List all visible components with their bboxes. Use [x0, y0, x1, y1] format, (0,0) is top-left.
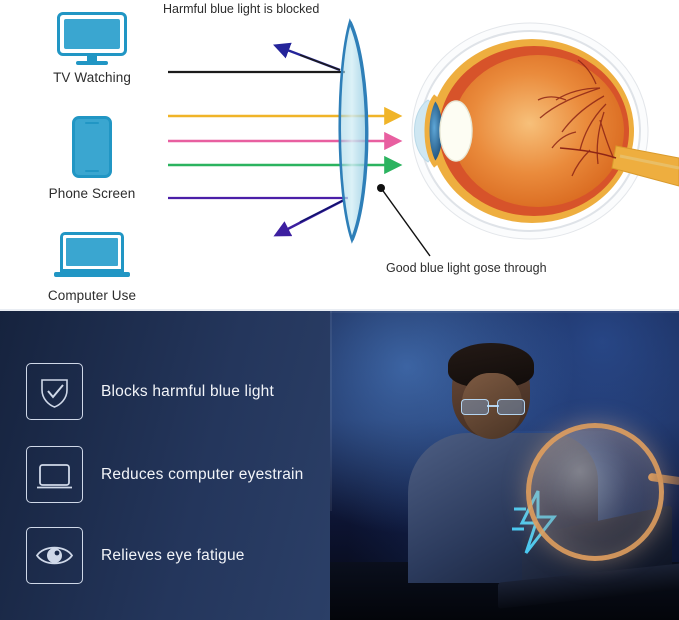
feature-label-reduces-eyestrain: Reduces computer eyestrain	[101, 466, 304, 484]
top-diagram-panel: Harmful blue light is blocked Good blue …	[0, 0, 679, 311]
feature-item-relieves-fatigue: Relieves eye fatigue	[26, 527, 245, 584]
feature-item-reduces-eyestrain: Reduces computer eyestrain	[26, 446, 304, 503]
feature-list: Blocks harmful blue light Reduces comput…	[0, 311, 330, 620]
bottom-feature-panel: Blocks harmful blue light Reduces comput…	[0, 311, 679, 620]
monitor-icon	[26, 446, 83, 503]
feature-item-blocks-blue-light: Blocks harmful blue light	[26, 363, 274, 420]
light-ray-and-eye-illustration	[0, 0, 679, 311]
man-with-blue-light-glasses-photo	[330, 311, 679, 620]
magnifying-lens	[526, 423, 664, 561]
feature-label-relieves-fatigue: Relieves eye fatigue	[101, 547, 245, 565]
eye-icon	[26, 527, 83, 584]
product-infographic: Harmful blue light is blocked Good blue …	[0, 0, 679, 620]
blue-light-glasses	[461, 399, 525, 415]
shield-check-icon	[26, 363, 83, 420]
blue-light-lens-shape	[340, 22, 367, 240]
feature-label-blocks-blue-light: Blocks harmful blue light	[101, 383, 274, 401]
